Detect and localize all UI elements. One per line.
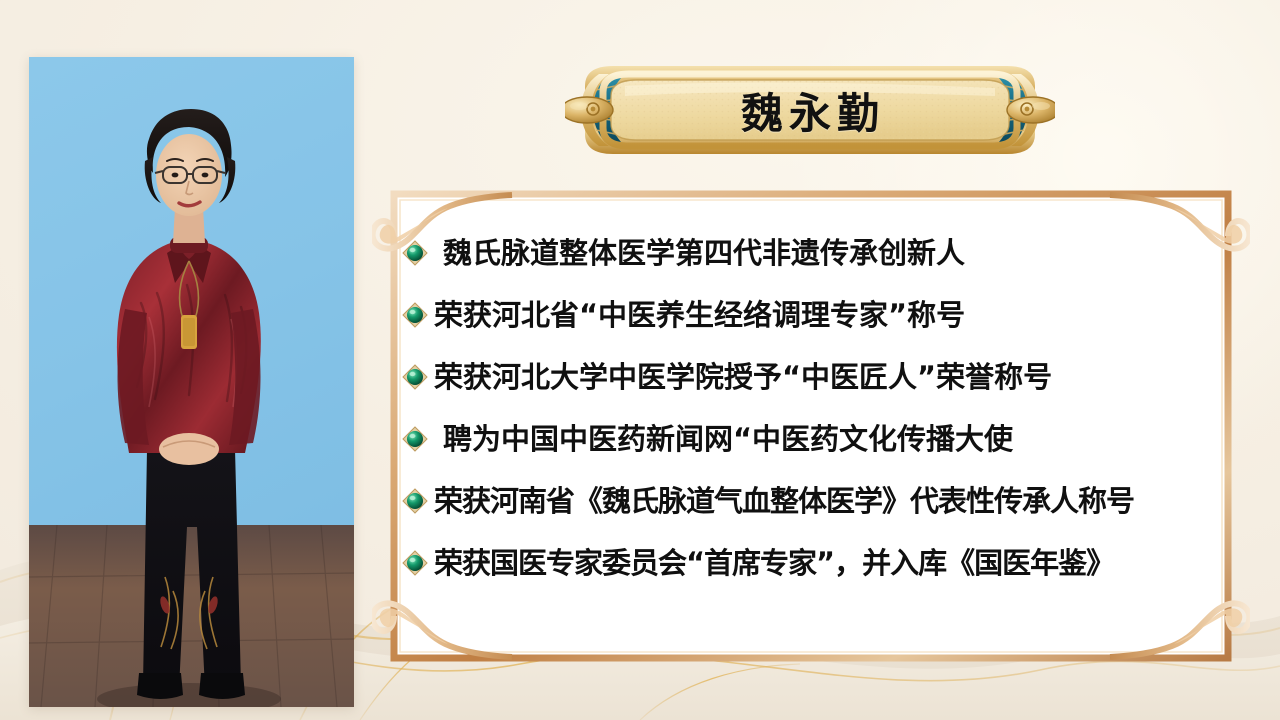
portrait-photo: [29, 57, 354, 707]
banner-title-text: 魏永勤: [565, 56, 1055, 164]
list-item-text: 荣获国医专家委员会“首席专家”，并入库《国医年鉴》: [434, 549, 1114, 578]
profile-card: 魏氏脉道整体医学第四代非遗传承创新人 荣获河北省“中医养生经络调理专家”称号 荣…: [372, 176, 1250, 676]
title-banner: 魏永勤: [565, 56, 1055, 164]
green-gem-bullet-icon: [402, 426, 428, 452]
list-item: 荣获河南省《魏氏脉道气血整体医学》代表性传承人称号: [402, 470, 1240, 532]
list-item: 荣获河北大学中医学院授予“中医匠人”荣誉称号: [402, 346, 1240, 408]
green-gem-bullet-icon: [402, 550, 428, 576]
list-item-text: 魏氏脉道整体医学第四代非遗传承创新人: [443, 239, 965, 268]
green-gem-bullet-icon: [402, 302, 428, 328]
list-item-text: 荣获河北大学中医学院授予“中医匠人”荣誉称号: [434, 363, 1052, 392]
list-item: 荣获国医专家委员会“首席专家”，并入库《国医年鉴》: [402, 532, 1240, 594]
list-item: 聘为中国中医药新闻网“中医药文化传播大使: [402, 408, 1240, 470]
list-item-text: 荣获河北省“中医养生经络调理专家”称号: [434, 301, 965, 330]
credentials-list: 魏氏脉道整体医学第四代非遗传承创新人 荣获河北省“中医养生经络调理专家”称号 荣…: [402, 222, 1240, 594]
list-item: 荣获河北省“中医养生经络调理专家”称号: [402, 284, 1240, 346]
slide-canvas: 魏永勤: [0, 0, 1280, 720]
green-gem-bullet-icon: [402, 240, 428, 266]
list-item-text: 荣获河南省《魏氏脉道气血整体医学》代表性传承人称号: [434, 487, 1134, 516]
green-gem-bullet-icon: [402, 364, 428, 390]
list-item: 魏氏脉道整体医学第四代非遗传承创新人: [402, 222, 1240, 284]
list-item-text: 聘为中国中医药新闻网“中医药文化传播大使: [443, 425, 1013, 454]
green-gem-bullet-icon: [402, 488, 428, 514]
